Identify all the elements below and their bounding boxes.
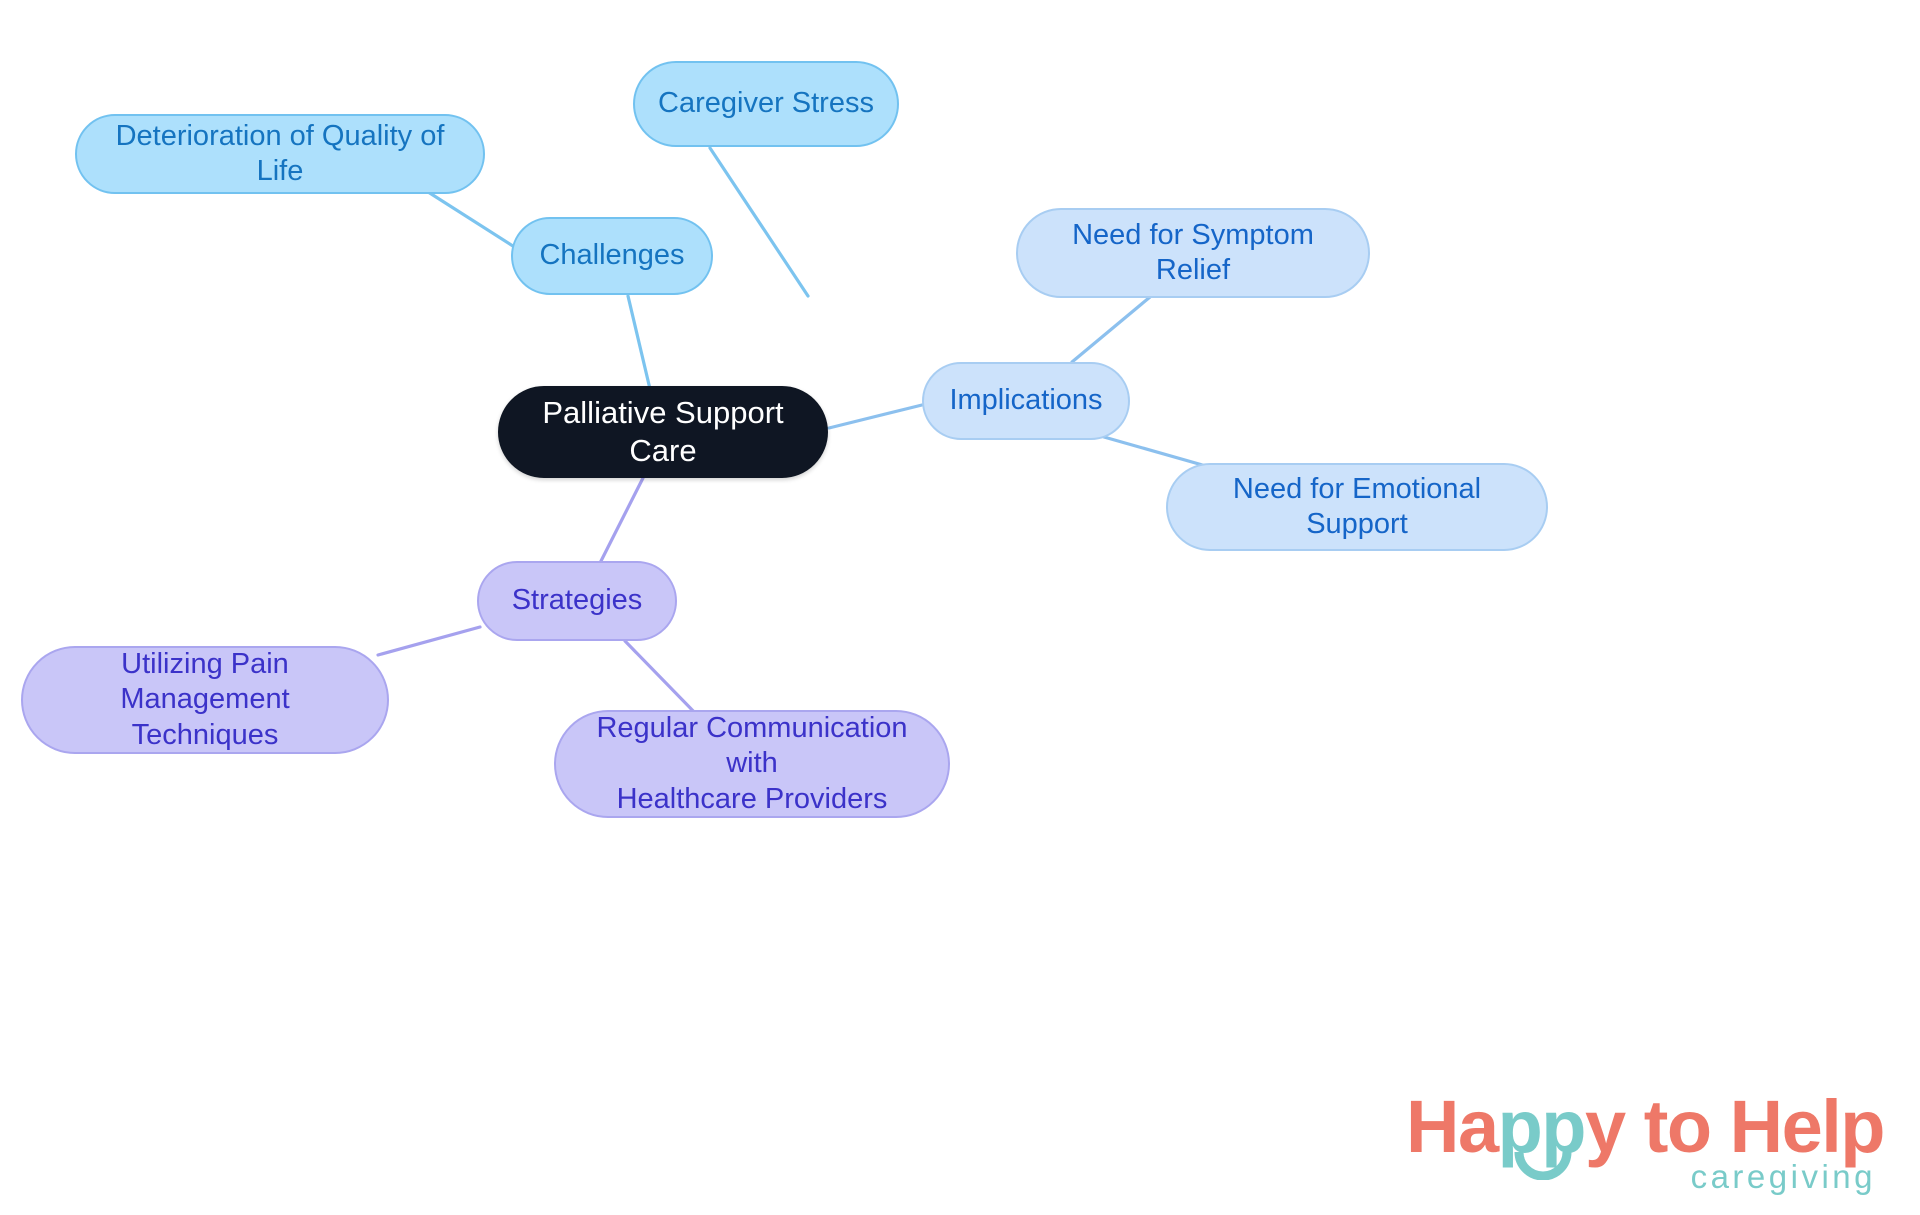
logo-text-y: y <box>1585 1085 1625 1168</box>
logo-text-to-help: to Help <box>1625 1085 1884 1168</box>
mindmap-leaf-utilizing-pain-management-techniques[interactable]: Utilizing Pain Management Techniques <box>21 646 389 754</box>
logo-wordmark: Happy to Help <box>1406 1090 1884 1164</box>
mindmap-leaf-need-for-symptom-relief[interactable]: Need for Symptom Relief <box>1016 208 1370 298</box>
logo-text-ha: Ha <box>1406 1085 1498 1168</box>
mindmap-branch-challenges[interactable]: Challenges <box>511 217 713 295</box>
mindmap-leaf-deterioration-quality-of-life[interactable]: Deterioration of Quality of Life <box>75 114 485 194</box>
mindmap-leaf-caregiver-stress[interactable]: Caregiver Stress <box>633 61 899 147</box>
mindmap-leaf-need-for-emotional-support[interactable]: Need for Emotional Support <box>1166 463 1548 551</box>
mindmap-leaf-regular-communication-healthcare-providers[interactable]: Regular Communication with Healthcare Pr… <box>554 710 950 818</box>
mindmap-branch-implications[interactable]: Implications <box>922 362 1130 440</box>
mindmap-branch-strategies[interactable]: Strategies <box>477 561 677 641</box>
smile-icon <box>1514 1150 1572 1180</box>
brand-logo: Happy to Help caregiving <box>1406 1090 1884 1193</box>
node-layer: Palliative Support CareChallengesDeterio… <box>0 0 1920 1215</box>
mindmap-canvas: Palliative Support CareChallengesDeterio… <box>0 0 1920 1215</box>
mindmap-root-node[interactable]: Palliative Support Care <box>498 386 828 478</box>
